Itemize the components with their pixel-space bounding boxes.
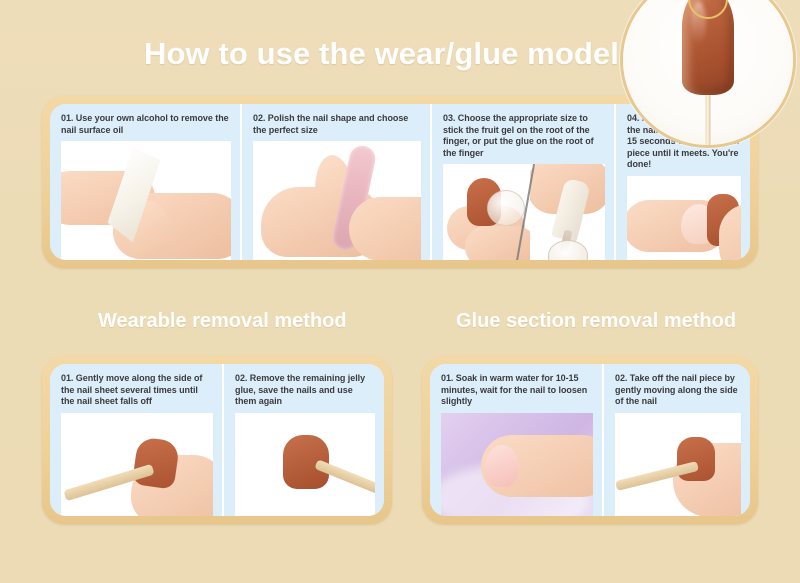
press-on-nail-icon: [132, 436, 180, 489]
step-02-photo: [253, 141, 421, 260]
wearable-removal-card: 01. Gently move along the side of the na…: [42, 356, 392, 524]
page-title: How to use the wear/glue model: [144, 36, 619, 72]
step-03-label: 03. Choose the appropriate size to stick…: [443, 113, 605, 159]
wearable-section-title: Wearable removal method: [98, 310, 347, 333]
step-04-photo: [627, 176, 741, 260]
wearable-step-card-01[interactable]: 01. Gently move along the side of the na…: [50, 364, 222, 516]
glue-step-02-photo: [615, 413, 741, 516]
wearable-step-02-label: 02. Remove the remaining jelly glue, sav…: [235, 373, 375, 408]
wearable-removal-inner: 01. Gently move along the side of the na…: [50, 364, 384, 516]
glue-step-02-label: 02. Take off the nail piece by gently mo…: [615, 373, 741, 408]
wearable-step-01-photo: [61, 413, 213, 516]
step-03-photo: [443, 164, 605, 260]
step-03-photo-right: [530, 164, 605, 260]
hero-badge: 数字方插头: [620, 0, 796, 148]
step-01-photo: [61, 141, 231, 260]
glue-removal-card: 01. Soak in warm water for 10-15 minutes…: [422, 356, 758, 524]
glue-drop-icon: [548, 240, 588, 260]
glue-step-card-01[interactable]: 01. Soak in warm water for 10-15 minutes…: [430, 364, 602, 516]
glue-section-title: Glue section removal method: [456, 310, 736, 333]
wearable-step-card-02[interactable]: 02. Remove the remaining jelly glue, sav…: [222, 364, 384, 516]
step-03-photo-left: [443, 164, 530, 260]
glue-removal-inner: 01. Soak in warm water for 10-15 minutes…: [430, 364, 750, 516]
glue-step-01-photo: [441, 413, 593, 516]
glue-step-card-02[interactable]: 02. Take off the nail piece by gently mo…: [602, 364, 750, 516]
step-02-label: 02. Polish the nail shape and choose the…: [253, 113, 421, 136]
step-card-01[interactable]: 01. Use your own alcohol to remove the n…: [50, 104, 240, 260]
wearable-step-01-label: 01. Gently move along the side of the na…: [61, 373, 213, 408]
step-card-02[interactable]: 02. Polish the nail shape and choose the…: [240, 104, 430, 260]
wearable-step-02-photo: [235, 413, 375, 516]
hand-shape-icon: [349, 197, 421, 260]
glue-step-01-label: 01. Soak in warm water for 10-15 minutes…: [441, 373, 593, 408]
step-01-label: 01. Use your own alcohol to remove the n…: [61, 113, 231, 136]
natural-nail-icon: [485, 445, 519, 487]
instruction-poster: How to use the wear/glue model 数字方插头 01.…: [0, 0, 800, 583]
step-card-03[interactable]: 03. Choose the appropriate size to stick…: [430, 104, 614, 260]
